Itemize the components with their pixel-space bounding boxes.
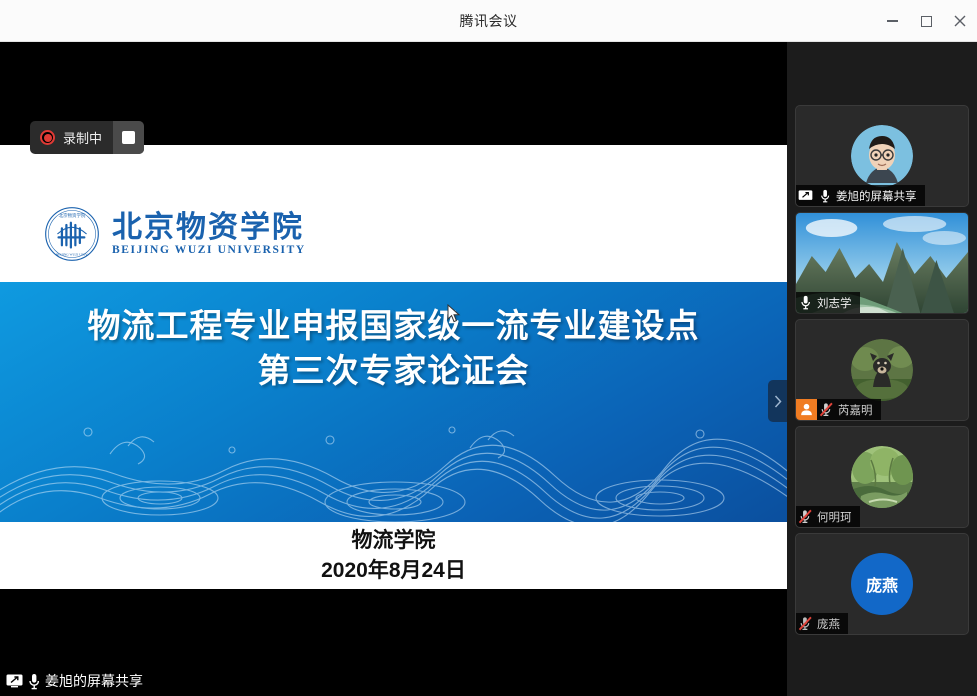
recording-label: 录制中: [63, 128, 102, 147]
slide-footer: 物流学院 2020年8月24日: [0, 522, 787, 589]
maximize-button[interactable]: [909, 0, 943, 42]
university-seal-icon: 北京物资学院 BEIJING WUZI UNIV.: [44, 206, 100, 262]
slide-header: 北京物资学院 BEIJING WUZI UNIV. 北京物资学院 BEIJING…: [0, 145, 787, 282]
participant-tile[interactable]: 姜旭的屏幕共享: [795, 105, 969, 207]
close-button[interactable]: [943, 0, 977, 42]
stage-share-label: 姜旭的屏幕共享: [45, 671, 143, 691]
participant-tile[interactable]: 何明珂: [795, 426, 969, 528]
mic-muted-indicator: [796, 509, 815, 524]
microphone-muted-icon: [819, 402, 834, 417]
participant-label: 庞燕: [796, 613, 848, 634]
participant-label: 刘志学: [796, 292, 860, 313]
stage-share-bar: 姜旭的屏幕共享: [0, 666, 787, 696]
logo-text-block: 北京物资学院 BEIJING WUZI UNIVERSITY: [112, 212, 306, 257]
screen-share-indicator: [796, 190, 815, 202]
slide-title-line1: 物流工程专业申报国家级一流专业建设点: [0, 304, 787, 349]
avatar: [851, 446, 913, 508]
participant-tile[interactable]: 刘志学: [795, 212, 969, 314]
minimize-icon: [887, 20, 898, 22]
chevron-right-icon: [774, 395, 782, 408]
screen-share-icon: [6, 674, 23, 688]
university-logo: 北京物资学院 BEIJING WUZI UNIV. 北京物资学院 BEIJING…: [44, 206, 306, 262]
cartoon-avatar-icon: [851, 125, 913, 187]
window-controls: [875, 0, 977, 42]
maximize-icon: [921, 16, 932, 27]
participant-label: 芮嘉明: [796, 399, 881, 420]
title-bar: 腾讯会议: [0, 0, 977, 42]
svg-text:北京物资学院: 北京物资学院: [59, 212, 86, 219]
close-icon: [954, 15, 966, 27]
photo-avatar-dog-icon: [851, 339, 913, 401]
participant-tile[interactable]: 芮嘉明: [795, 319, 969, 421]
svg-text:BEIJING WUZI UNIV.: BEIJING WUZI UNIV.: [56, 252, 88, 256]
microphone-icon: [820, 189, 830, 203]
mic-indicator: [815, 189, 834, 203]
microphone-icon: [28, 673, 40, 690]
participant-label: 姜旭的屏幕共享: [796, 185, 925, 206]
participant-rail[interactable]: 姜旭的屏幕共享: [787, 42, 977, 696]
record-dot-icon: [40, 130, 55, 145]
screen-share-icon: [798, 190, 813, 202]
slide-footer-date: 2020年8月24日: [0, 556, 787, 586]
logo-english-name: BEIJING WUZI UNIVERSITY: [112, 244, 306, 256]
slide-title-line2: 第三次专家论证会: [0, 349, 787, 394]
wave-pattern-decoration: [0, 402, 787, 522]
slide-title: 物流工程专业申报国家级一流专业建设点 第三次专家论证会: [0, 282, 787, 394]
mic-indicator: [796, 295, 815, 310]
presentation-slide: 北京物资学院 BEIJING WUZI UNIV. 北京物资学院 BEIJING…: [0, 145, 787, 589]
logo-chinese-name: 北京物资学院: [112, 212, 306, 244]
mic-muted-indicator: [817, 402, 836, 417]
expand-panel-handle[interactable]: [768, 380, 787, 422]
recording-indicator: 录制中: [30, 121, 144, 154]
avatar: [851, 339, 913, 401]
slide-footer-organization: 物流学院: [0, 526, 787, 556]
window-title: 腾讯会议: [460, 11, 518, 31]
microphone-muted-icon: [798, 616, 813, 631]
shared-screen-stage[interactable]: 录制中: [0, 42, 787, 696]
microphone-muted-icon: [798, 509, 813, 524]
avatar: 庞燕: [851, 553, 913, 615]
mic-muted-indicator: [796, 616, 815, 631]
participant-tile[interactable]: 庞燕 庞燕: [795, 533, 969, 635]
recording-status: 录制中: [30, 121, 113, 154]
stop-recording-button[interactable]: [113, 121, 144, 154]
participant-name: 芮嘉明: [836, 402, 873, 418]
minimize-button[interactable]: [875, 0, 909, 42]
participant-name: 庞燕: [815, 616, 840, 632]
slide-banner: 物流工程专业申报国家级一流专业建设点 第三次专家论证会: [0, 282, 787, 522]
tencent-meeting-window: 腾讯会议 录制中: [0, 0, 977, 696]
microphone-icon: [800, 295, 811, 310]
participant-name: 刘志学: [815, 295, 852, 311]
photo-avatar-trees-icon: [851, 446, 913, 508]
participant-label: 何明珂: [796, 506, 860, 527]
participant-name: 姜旭的屏幕共享: [834, 188, 917, 204]
participant-name: 何明珂: [815, 509, 852, 525]
avatar: [851, 125, 913, 187]
stop-square-icon: [122, 131, 135, 144]
host-badge: [796, 399, 817, 420]
host-person-icon: [800, 403, 813, 416]
